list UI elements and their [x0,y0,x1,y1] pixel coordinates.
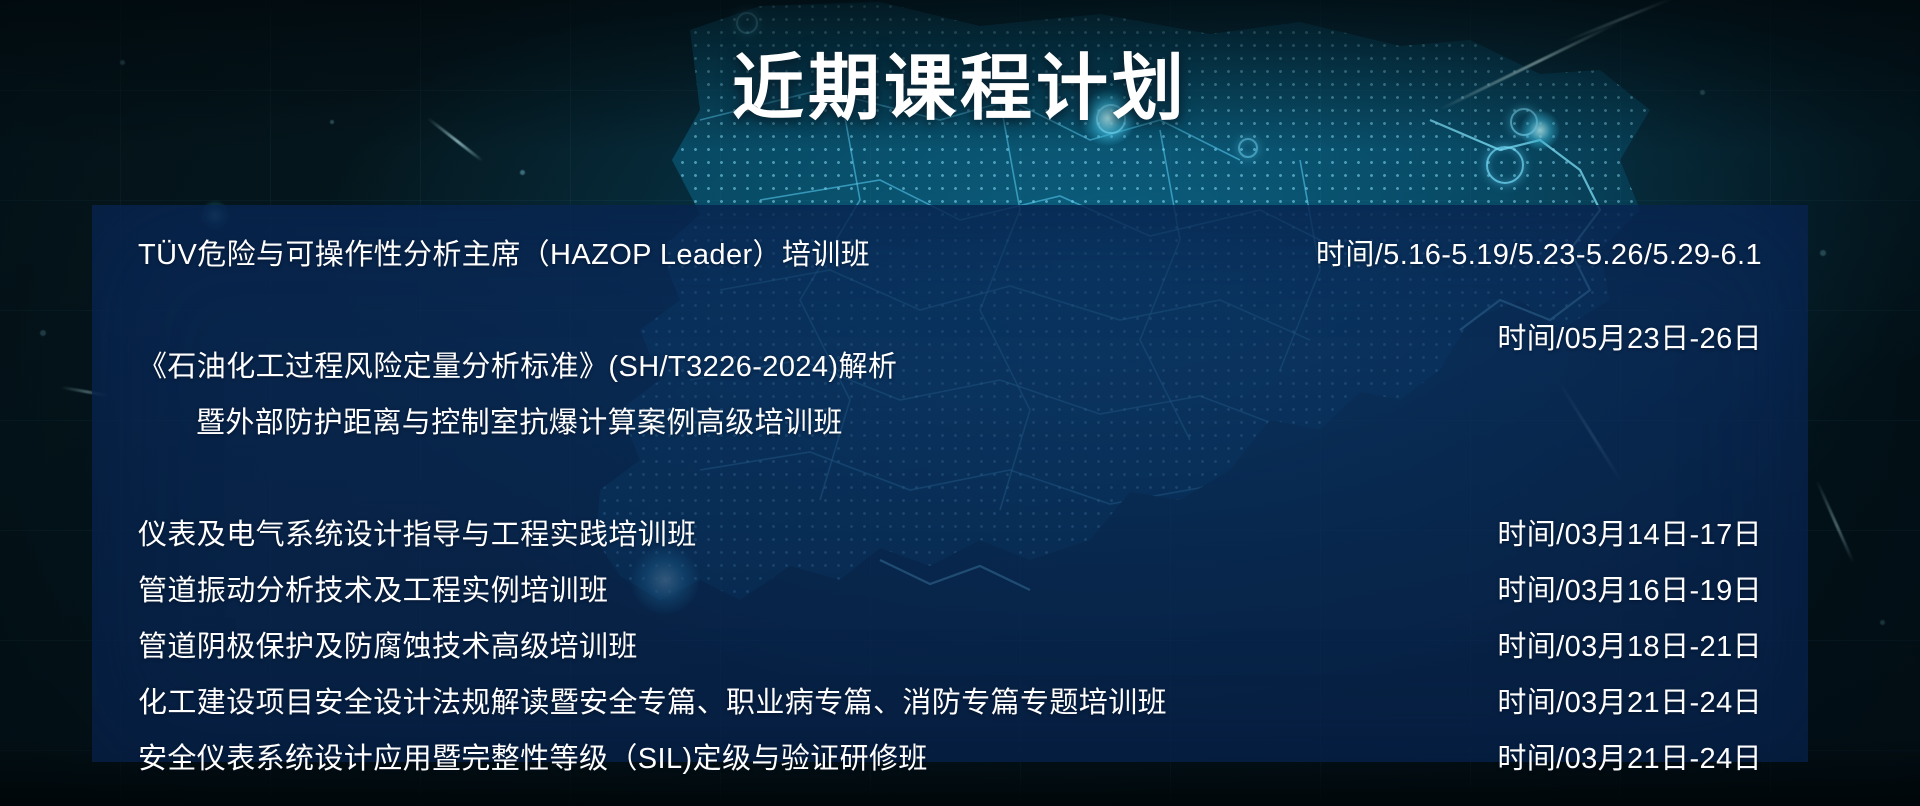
course-date: 时间/03月18日-21日 [1497,619,1762,675]
schedule-row[interactable]: 管道阴极保护及防腐蚀技术高级培训班 时间/03月18日-21日 [138,619,1762,675]
schedule-row[interactable]: 安全仪表系统设计应用暨完整性等级（SIL)定级与验证研修班 时间/03月21日-… [138,731,1762,787]
course-title: 安全仪表系统设计应用暨完整性等级（SIL)定级与验证研修班 [138,731,928,787]
schedule-row[interactable]: 管道振动分析技术及工程实例培训班 时间/03月16日-19日 [138,563,1762,619]
course-title-line2: 暨外部防护距离与控制室抗爆计算案例高级培训班 [138,395,897,451]
course-date: 时间/05月23日-26日 [1497,283,1762,395]
course-title: 管道阴极保护及防腐蚀技术高级培训班 [138,619,638,675]
course-date: 时间/5.16-5.19/5.23-5.26/5.29-6.1 [1316,227,1762,283]
course-date: 时间/03月21日-24日 [1497,675,1762,731]
course-title: 《石油化工过程风险定量分析标准》(SH/T3226-2024)解析 暨外部防护距… [138,283,897,507]
course-title: 化工建设项目安全设计法规解读暨安全专篇、职业病专篇、消防专篇专题培训班 [138,675,1167,731]
schedule-panel: TÜV危险与可操作性分析主席（HAZOP Leader）培训班 时间/5.16-… [92,205,1808,762]
page-title: 近期课程计划 [0,52,1920,124]
course-date: 时间/03月16日-19日 [1497,563,1762,619]
course-title-line1: 《石油化工过程风险定量分析标准》(SH/T3226-2024)解析 [138,351,897,383]
schedule-row[interactable]: TÜV危险与可操作性分析主席（HAZOP Leader）培训班 时间/5.16-… [138,227,1762,283]
course-title: TÜV危险与可操作性分析主席（HAZOP Leader）培训班 [138,227,870,283]
course-title: 仪表及电气系统设计指导与工程实践培训班 [138,507,697,563]
banner-stage: 近期课程计划 TÜV危险与可操作性分析主席（HAZOP Leader）培训班 时… [0,0,1920,806]
course-title: 管道振动分析技术及工程实例培训班 [138,563,608,619]
schedule-row[interactable]: 化工建设项目安全设计法规解读暨安全专篇、职业病专篇、消防专篇专题培训班 时间/0… [138,675,1762,731]
schedule-rows: TÜV危险与可操作性分析主席（HAZOP Leader）培训班 时间/5.16-… [92,205,1808,787]
schedule-row[interactable]: 《石油化工过程风险定量分析标准》(SH/T3226-2024)解析 暨外部防护距… [138,283,1762,507]
course-date: 时间/03月14日-17日 [1497,507,1762,563]
schedule-row[interactable]: 仪表及电气系统设计指导与工程实践培训班 时间/03月14日-17日 [138,507,1762,563]
course-date: 时间/03月21日-24日 [1497,731,1762,787]
